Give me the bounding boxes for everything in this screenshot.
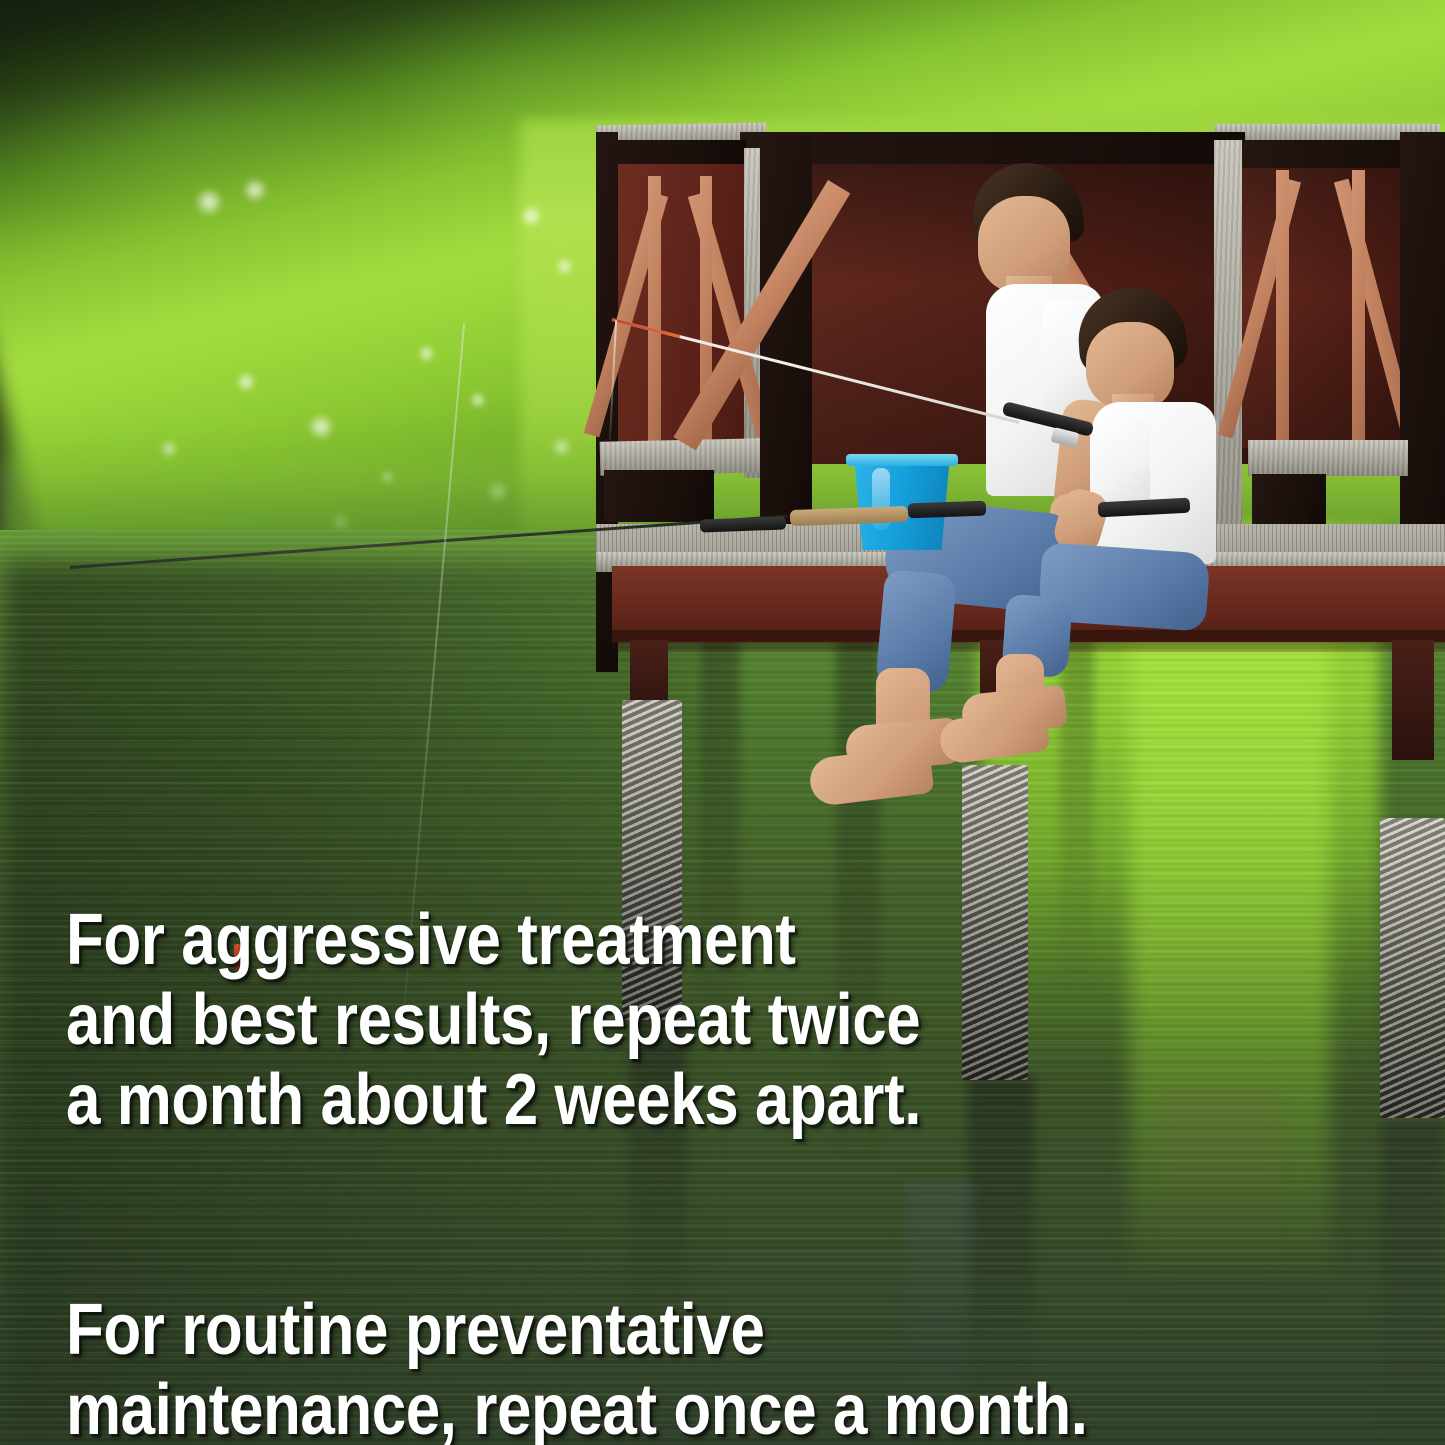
caption-spacer [66,1140,1386,1290]
boy-foot-2 [960,685,1068,738]
wooden-dock [0,0,1445,760]
instruction-image: For aggressive treatment and best result… [0,0,1445,1445]
piling-right [1380,818,1445,1118]
fishing-rod-lower-grip-2 [908,501,986,519]
railing-bottom-rail-right [1248,440,1408,476]
caption-line-3: a month about 2 weeks apart. [66,1060,1201,1140]
dock-joist-far-right [1392,640,1434,760]
railing-stud-left-a [648,176,661,446]
railing-kickboard-left [604,470,714,522]
railing-post-center [760,136,812,556]
bucket-rim [846,454,958,466]
caption-line-1: For aggressive treatment [66,900,1201,980]
caption-line-5: maintenance, repeat once a month. [66,1370,1201,1445]
caption-line-4: For routine preventative [66,1290,1201,1370]
caption-block: For aggressive treatment and best result… [66,900,1386,1445]
railing-stud-right-b [1352,170,1365,448]
railing-stud-right-a [1276,170,1289,448]
caption-line-2: and best results, repeat twice [66,980,1201,1060]
railing-top-beam [740,132,1245,164]
railing-top-beam-left [596,140,746,166]
